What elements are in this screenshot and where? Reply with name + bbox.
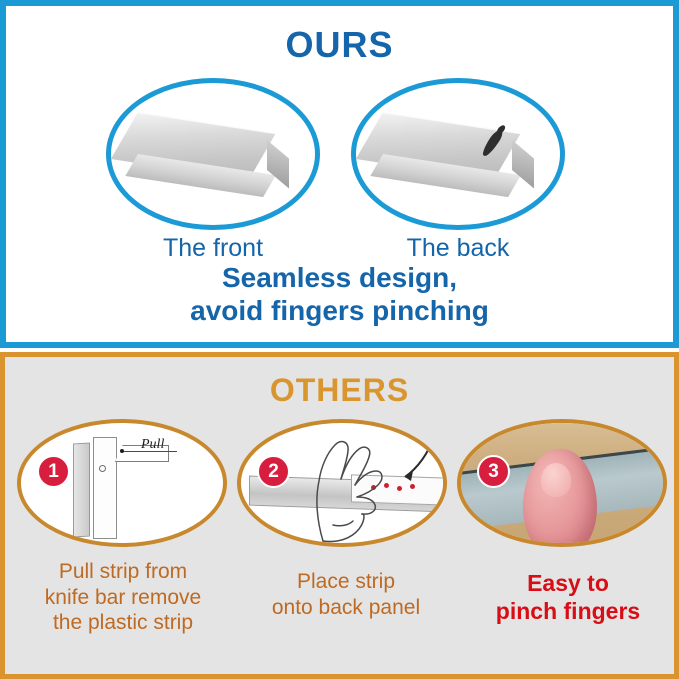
step-caption-3: Easy to pinch fingers xyxy=(455,569,679,625)
others-title: OTHERS xyxy=(5,372,674,409)
ours-title: OURS xyxy=(6,24,673,66)
figure-caption-front: The front xyxy=(106,234,320,263)
leader-dot xyxy=(120,449,124,453)
knife-bar-body-icon xyxy=(93,437,117,539)
metal-bar-back-icon xyxy=(383,112,533,192)
step-badge-1: 1 xyxy=(37,455,70,488)
caption-1-line-3: the plastic strip xyxy=(7,610,239,636)
caption-3-line-2: pinch fingers xyxy=(455,597,679,625)
caption-2-line-2: onto back panel xyxy=(241,595,451,621)
ours-figure-front: The front xyxy=(106,78,320,230)
metal-bar-front-icon xyxy=(138,112,288,192)
figure-caption-back: The back xyxy=(351,234,565,263)
tagline-line-2: avoid fingers pinching xyxy=(6,294,673,327)
ours-figure-back: The back xyxy=(351,78,565,230)
knife-bar-blade-icon xyxy=(73,443,90,538)
hand-sketch-icon xyxy=(293,429,401,547)
others-panel: OTHERS Pull 1 xyxy=(0,352,679,679)
ours-panel: OURS The front The back xyxy=(0,0,679,348)
step-badge-3: 3 xyxy=(477,455,510,488)
fingernail xyxy=(541,463,571,497)
tagline-line-1: Seamless design, xyxy=(6,261,673,294)
ours-figure-row: The front The back xyxy=(6,78,673,238)
caption-1-line-1: Pull strip from xyxy=(7,559,239,585)
others-step-row: Pull 1 xyxy=(5,419,674,554)
caption-3-line-1: Easy to xyxy=(455,569,679,597)
step-3: 3 xyxy=(457,419,667,547)
comparison-infographic: OURS The front The back xyxy=(0,0,679,679)
screw-hole-icon xyxy=(99,465,106,472)
step-badge-2: 2 xyxy=(257,455,290,488)
ours-tagline: Seamless design, avoid fingers pinching xyxy=(6,261,673,327)
step-caption-2: Place strip onto back panel xyxy=(241,569,451,620)
pull-annotation: Pull xyxy=(141,437,164,453)
caption-2-line-1: Place strip xyxy=(241,569,451,595)
motion-arrow-icon xyxy=(389,431,443,489)
step-1: Pull 1 xyxy=(17,419,227,547)
caption-1-line-2: knife bar remove xyxy=(7,585,239,611)
step-2: 2 xyxy=(237,419,447,547)
step-caption-1: Pull strip from knife bar remove the pla… xyxy=(7,559,239,636)
